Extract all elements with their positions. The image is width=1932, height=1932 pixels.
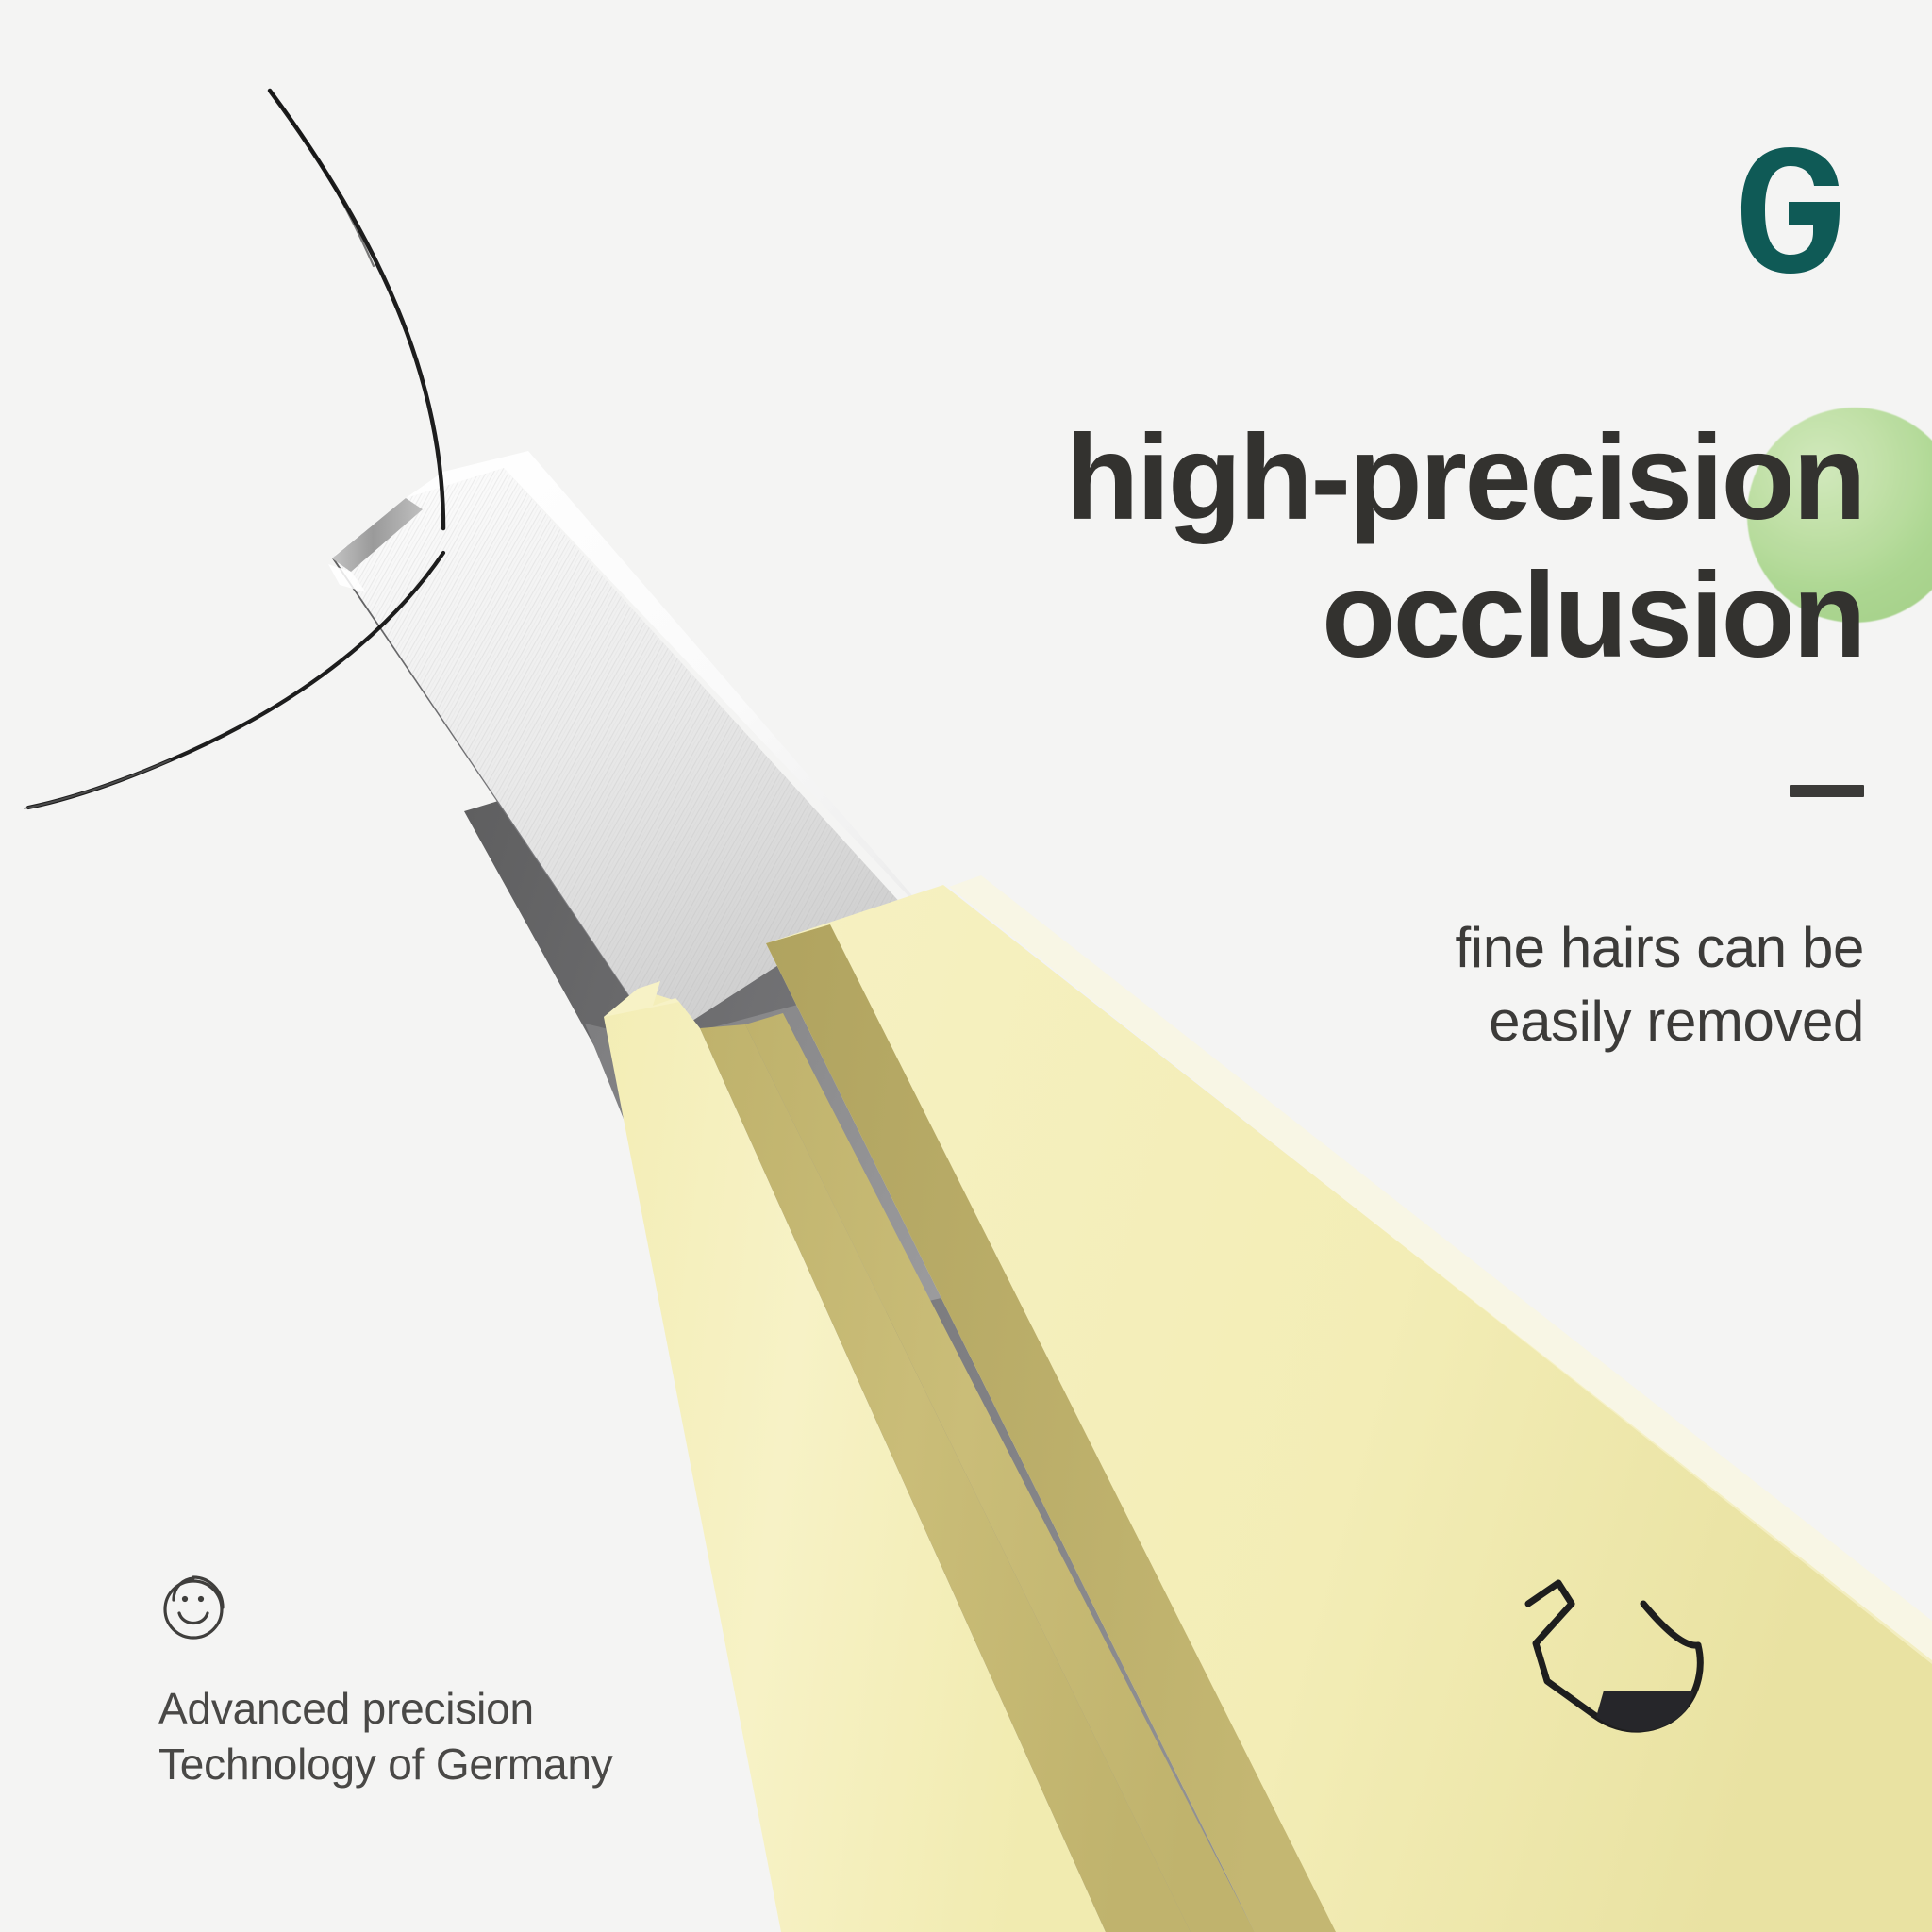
product-marketing-image: high-precision occlusion fine hairs can … bbox=[0, 0, 1932, 1932]
tweezer-coating-notch bbox=[604, 981, 679, 1017]
smiley-face-icon bbox=[158, 1574, 228, 1643]
handle-engraving-fill bbox=[1596, 1690, 1694, 1731]
badge-line-1: Advanced precision bbox=[158, 1681, 613, 1737]
handle-engraving-mark bbox=[1528, 1583, 1700, 1729]
tweezer-tip-edge bbox=[332, 498, 423, 572]
tweezer-gap-facet bbox=[745, 1013, 1255, 1932]
badge-caption: Advanced precision Technology of Germany bbox=[158, 1681, 613, 1792]
page-title: high-precision occlusion bbox=[619, 413, 1864, 681]
tweezer-front-arm-shadow bbox=[700, 1024, 1191, 1932]
tweezer-tip-corner bbox=[328, 564, 366, 592]
tweezer-back-arm-shadow bbox=[766, 924, 1336, 1932]
letter-g-logo bbox=[1734, 143, 1847, 277]
subtitle: fine hairs can be easily removed bbox=[921, 911, 1864, 1058]
subtitle-line-2: easily removed bbox=[921, 985, 1864, 1058]
divider-dash bbox=[1790, 785, 1864, 797]
headline-line-2: occlusion bbox=[619, 551, 1864, 681]
badge-line-2: Technology of Germany bbox=[158, 1737, 613, 1792]
subtitle-line-1: fine hairs can be bbox=[921, 911, 1864, 985]
headline-line-1: high-precision bbox=[619, 413, 1864, 543]
germany-technology-badge: Advanced precision Technology of Germany bbox=[158, 1574, 613, 1792]
tweezer-cream-handle-front bbox=[604, 989, 1106, 1932]
